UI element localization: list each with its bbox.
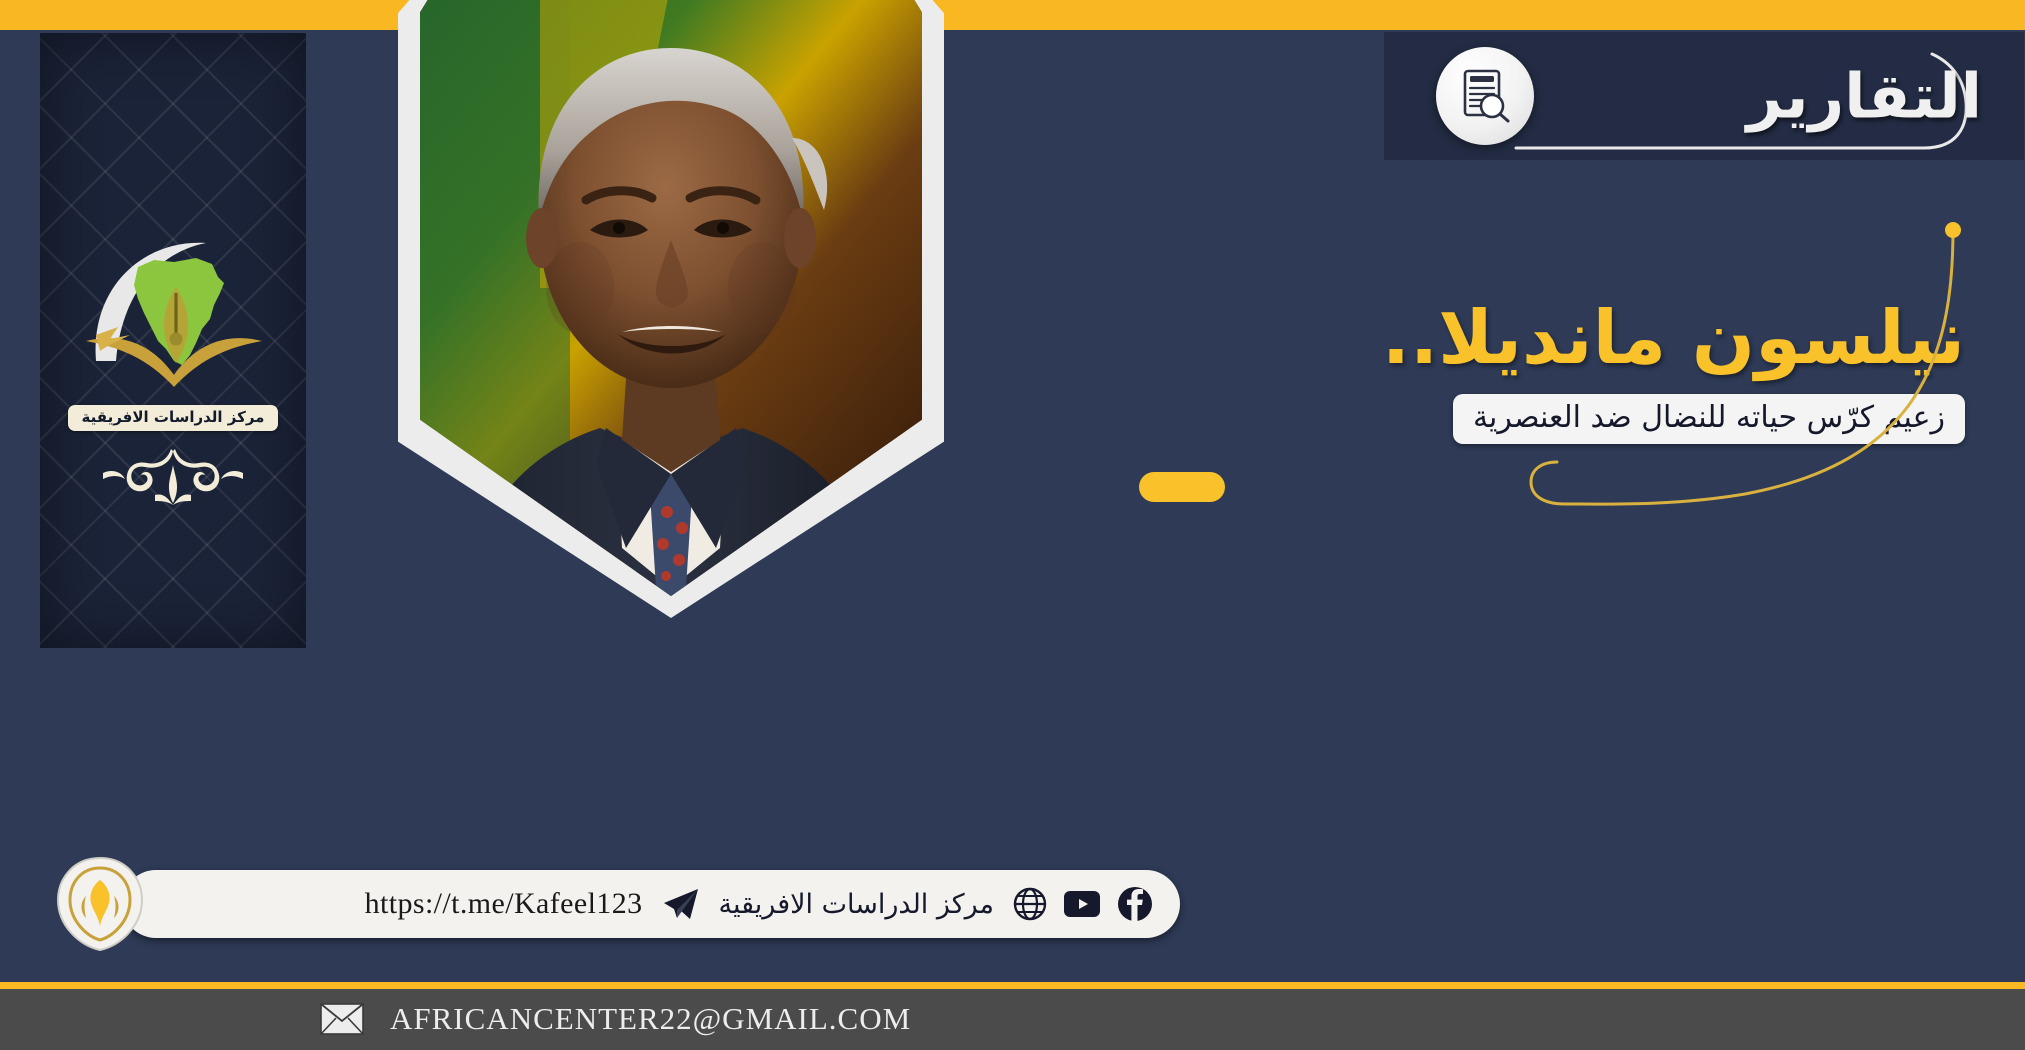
logo-graphics	[78, 229, 268, 399]
document-search-icon	[1459, 68, 1511, 124]
accent-bracket-line	[1445, 212, 1965, 542]
envelope-icon	[320, 1003, 364, 1035]
left-ornamental-panel: مركز الدراسات الافريقية	[40, 33, 306, 648]
portrait-frame	[398, 0, 944, 618]
facebook-icon[interactable]	[1116, 885, 1154, 923]
telegram-url[interactable]: https://t.me/Kafeel123	[365, 887, 643, 921]
poster-canvas: مركز الدراسات الافريقية	[0, 0, 2025, 1050]
email-address[interactable]: AFRICANCENTER22@GMAIL.COM	[390, 1001, 911, 1037]
portrait-photo	[420, 0, 922, 596]
headline-block: نيلسون مانديلا.. زعيم كرّس حياته للنضال …	[1085, 300, 1965, 512]
social-icons[interactable]	[1012, 885, 1154, 923]
contact-bar[interactable]: https://t.me/Kafeel123 مركز الدراسات الا…	[122, 870, 1180, 938]
telegram-icon[interactable]	[661, 884, 701, 924]
contact-bar-wrapper: https://t.me/Kafeel123 مركز الدراسات الا…	[50, 870, 1180, 938]
center-name: مركز الدراسات الافريقية	[719, 889, 994, 920]
email-bar[interactable]: AFRICANCENTER22@GMAIL.COM	[0, 988, 2025, 1050]
floral-ornament-icon	[93, 443, 253, 507]
accent-pill	[1139, 472, 1225, 502]
top-gold-bar	[0, 0, 2025, 30]
logo-name-plate: مركز الدراسات الافريقية	[68, 405, 279, 431]
accent-row	[1085, 462, 1965, 512]
portrait-image	[420, 0, 922, 596]
globe-icon[interactable]	[1012, 886, 1048, 922]
logo-mark	[78, 229, 268, 399]
eagle-seal-icon	[50, 856, 150, 952]
report-badge[interactable]: التقارير	[1384, 32, 2024, 160]
badge-icon-circle	[1436, 47, 1534, 145]
youtube-icon[interactable]	[1062, 886, 1102, 922]
brand-logo: مركز الدراسات الافريقية	[40, 229, 306, 507]
badge-title: التقارير	[1747, 60, 1982, 133]
